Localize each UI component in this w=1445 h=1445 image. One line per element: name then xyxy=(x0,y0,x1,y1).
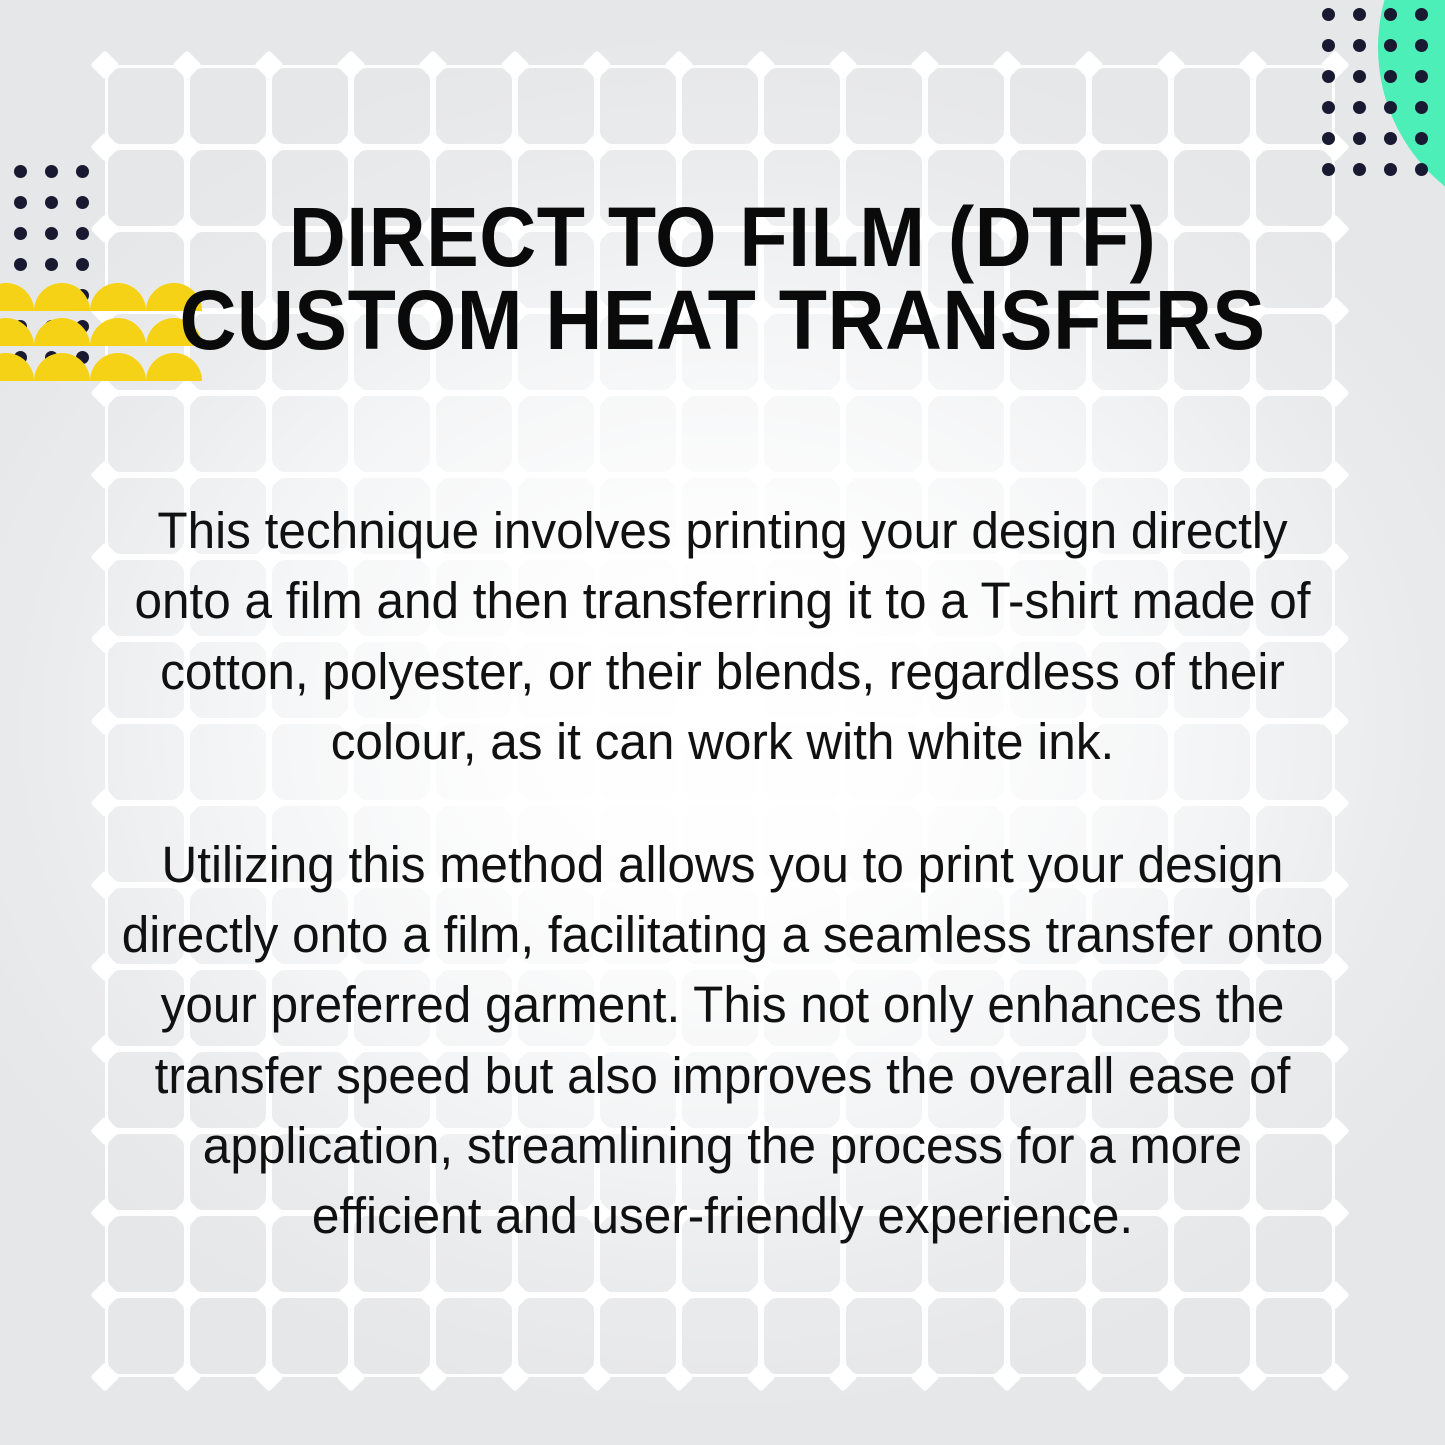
paragraph-2: Utilizing this method allows you to prin… xyxy=(114,830,1331,1252)
body-text-block: This technique involves printing your de… xyxy=(95,445,1350,1303)
poster-content: DIRECT TO FILM (DTF) CUSTOM HEAT TRANSFE… xyxy=(0,0,1445,1445)
page-title: DIRECT TO FILM (DTF) CUSTOM HEAT TRANSFE… xyxy=(0,196,1445,361)
paragraph-1: This technique involves printing your de… xyxy=(114,496,1331,778)
title-line-1: DIRECT TO FILM (DTF) xyxy=(156,196,1289,278)
title-line-2: CUSTOM HEAT TRANSFERS xyxy=(156,279,1289,361)
poster-canvas: DIRECT TO FILM (DTF) CUSTOM HEAT TRANSFE… xyxy=(0,0,1445,1445)
